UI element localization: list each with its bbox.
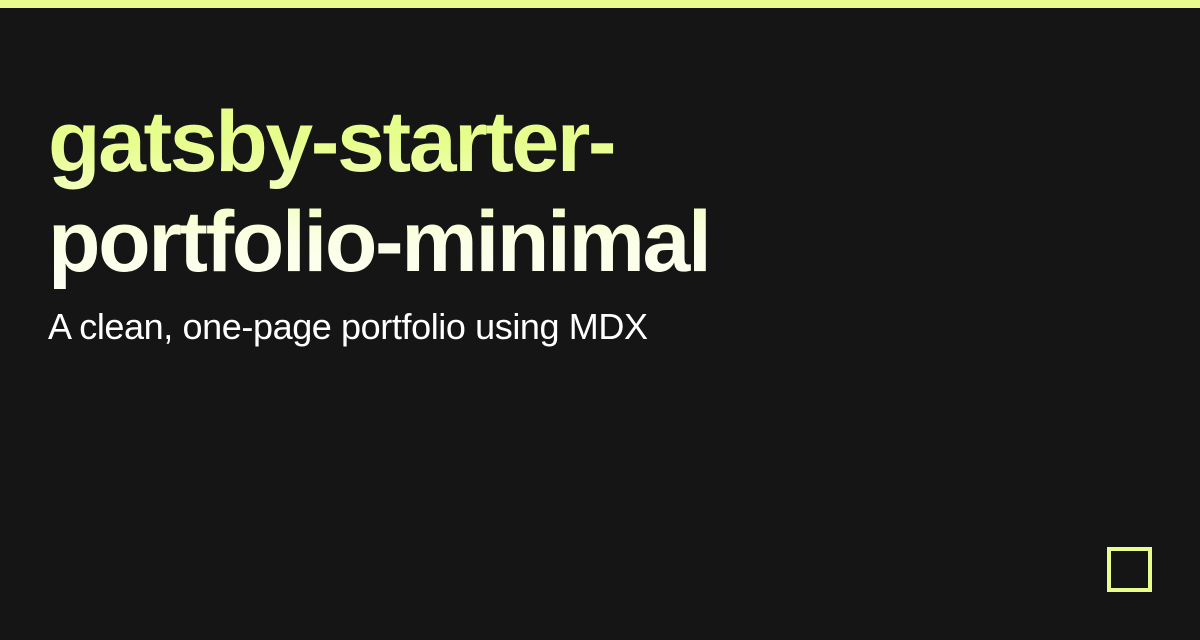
card-content: gatsby-starter-portfolio-minimal A clean…	[48, 8, 1152, 640]
square-outline-icon	[1107, 547, 1152, 592]
social-preview-card: gatsby-starter-portfolio-minimal A clean…	[0, 0, 1200, 640]
top-accent-bar	[0, 0, 1200, 8]
page-subtitle: A clean, one-page portfolio using MDX	[48, 304, 948, 350]
page-title: gatsby-starter-portfolio-minimal	[48, 92, 808, 292]
